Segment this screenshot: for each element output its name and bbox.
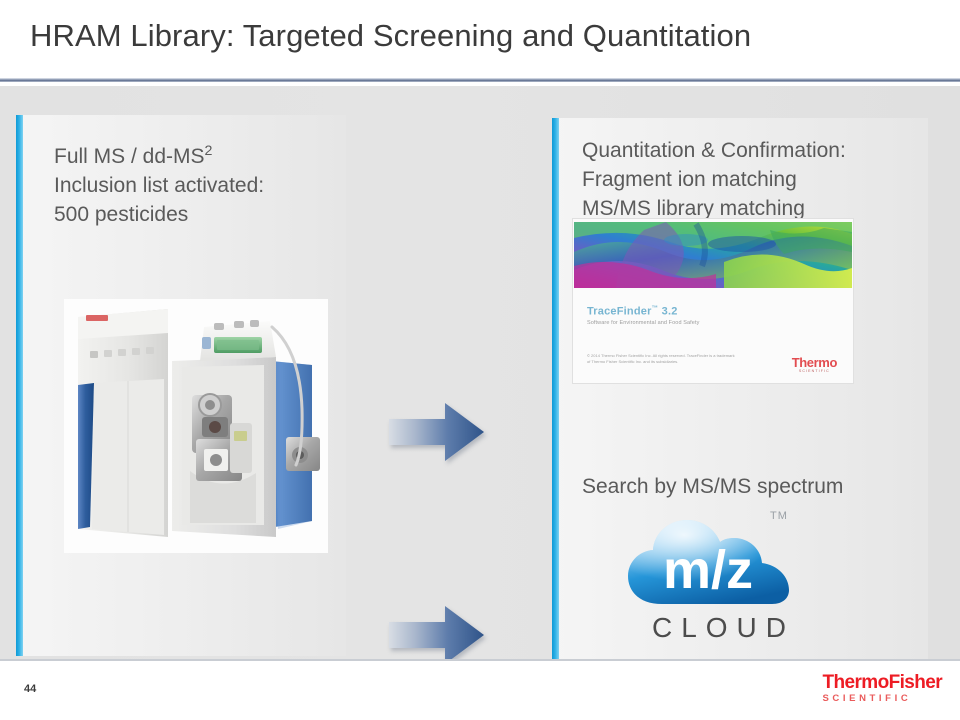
acquisition-line-1: Full MS / dd-MS2 <box>54 137 264 171</box>
mzcloud-logo: m/z TM CLOUD <box>624 508 814 648</box>
tracefinder-subtitle: Software for Environmental and Food Safe… <box>587 320 699 326</box>
thermofisher-brand: ThermoFisher <box>823 673 943 692</box>
footer: 44 ThermoFisher SCIENTIFIC <box>0 661 960 720</box>
tracefinder-product-title: TraceFinder™ 3.2 <box>587 305 678 318</box>
panel-spectral-search: Search by MS/MS spectrum <box>552 452 928 660</box>
panel-accent-bar-top-right <box>552 118 559 497</box>
trademark-symbol: ™ <box>652 305 659 312</box>
flow-arrow-to-spectral-search <box>389 604 485 666</box>
superscript-2: 2 <box>205 143 213 159</box>
spectral-search-line-1: Search by MS/MS spectrum <box>582 472 843 501</box>
content-area: Full MS / dd-MS2 Inclusion list activate… <box>0 86 960 660</box>
page-title: HRAM Library: Targeted Screening and Qua… <box>30 18 751 54</box>
page-number: 44 <box>24 683 36 695</box>
tracefinder-banner-art <box>574 222 852 288</box>
acquisition-text-block: Full MS / dd-MS2 Inclusion list activate… <box>54 137 264 229</box>
tracefinder-thermo-logo: Thermo SCIENTIFIC <box>792 357 837 373</box>
panel-quantitation: Quantitation & Confirmation: Fragment io… <box>552 118 928 497</box>
acquisition-line-2: Inclusion list activated: <box>54 171 264 200</box>
tracefinder-banner-image <box>574 222 852 288</box>
tracefinder-fineprint: © 2014 Thermo Fisher Scientific Inc. All… <box>587 353 737 364</box>
flow-arrow-to-quantitation <box>389 401 485 463</box>
quantitation-line-2: Fragment ion matching <box>582 165 846 194</box>
mzcloud-trademark: TM <box>770 510 788 522</box>
quantitation-line-1: Quantitation & Confirmation: <box>582 136 846 165</box>
quantitation-text-block: Quantitation & Confirmation: Fragment io… <box>582 136 846 223</box>
mass-spectrometer-photo <box>64 299 328 553</box>
mzcloud-mark-text: m/z <box>663 540 753 600</box>
mzcloud-cloud-icon: m/z <box>624 508 814 612</box>
mass-spectrometer-illustration <box>64 299 328 553</box>
spectral-search-text-block: Search by MS/MS spectrum <box>582 472 843 501</box>
title-area: HRAM Library: Targeted Screening and Qua… <box>0 0 960 78</box>
title-divider <box>0 78 960 82</box>
tracefinder-thermo-brand: Thermo <box>792 357 837 369</box>
tracefinder-splash-screenshot: TraceFinder™ 3.2 Software for Environmen… <box>573 219 853 383</box>
thermofisher-scientific: SCIENTIFIC <box>823 692 943 705</box>
slide: HRAM Library: Targeted Screening and Qua… <box>0 0 960 720</box>
panel-accent-bar-left <box>16 115 23 656</box>
mzcloud-wordmark: CLOUD <box>632 612 806 644</box>
acquisition-line-3: 500 pesticides <box>54 200 264 229</box>
thermofisher-logo: ThermoFisher SCIENTIFIC <box>823 673 943 705</box>
panel-accent-bar-bottom-right <box>552 452 559 660</box>
panel-acquisition: Full MS / dd-MS2 Inclusion list activate… <box>16 115 346 656</box>
